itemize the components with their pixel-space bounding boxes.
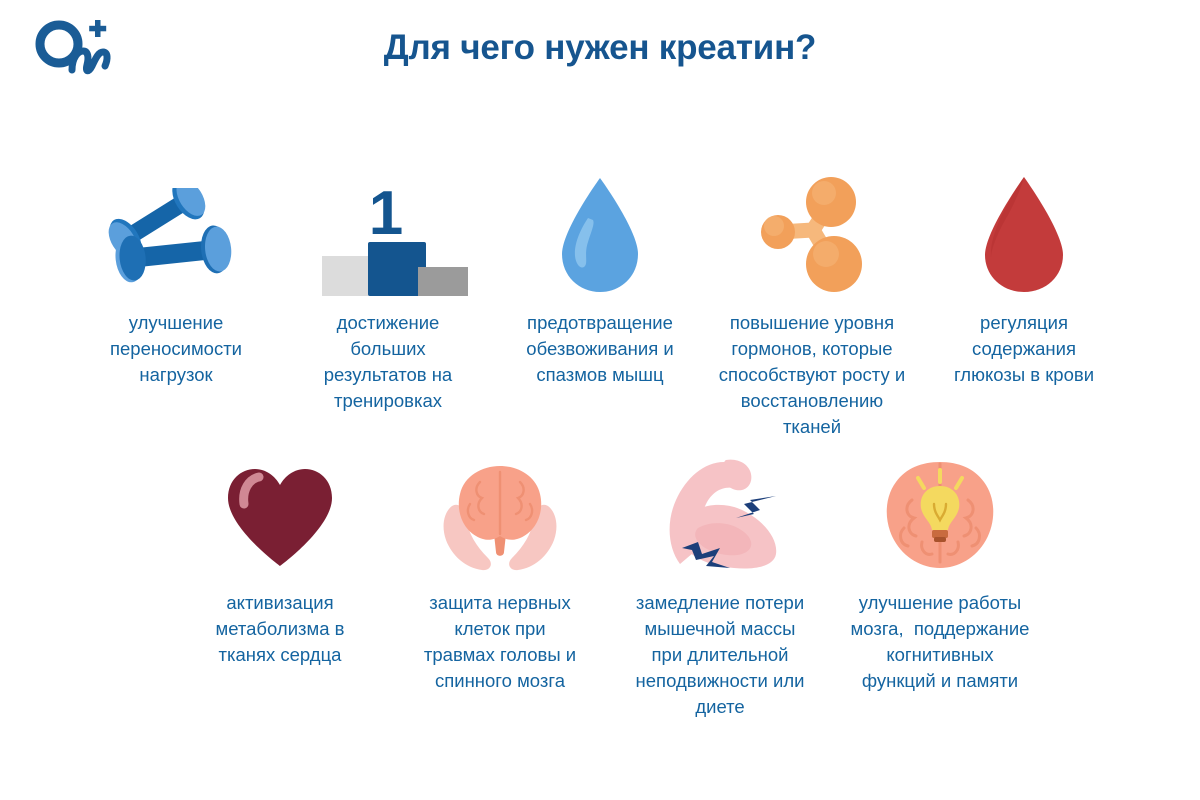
icon-container	[550, 168, 650, 296]
benefit-caption: активизация метаболизма в тканях сердца	[198, 590, 363, 668]
flexed-arm-lightning-icon	[650, 456, 790, 572]
icon-container	[436, 452, 564, 572]
icon-container	[751, 168, 873, 296]
benefit-item: активизация метаболизма в тканях сердца	[170, 452, 390, 668]
benefit-item: повышение уровня гормонов, которые спосо…	[706, 168, 918, 440]
benefit-item: улучшение работы мозга, поддержание когн…	[830, 452, 1050, 694]
icon-container	[101, 168, 251, 296]
water-drop-icon	[550, 174, 650, 296]
benefit-caption: улучшение работы мозга, поддержание когн…	[835, 590, 1045, 694]
benefits-row-1: улучшение переносимости нагрузок 1 дости…	[60, 168, 1140, 440]
benefit-caption: защита нервных клеток при травмах головы…	[410, 590, 590, 694]
benefit-item: улучшение переносимости нагрузок	[70, 168, 282, 388]
icon-container	[878, 452, 1002, 572]
podium-first-place-icon: 1	[308, 174, 468, 296]
icon-container: 1	[308, 168, 468, 296]
benefit-caption: замедление потери мышечной массы при дли…	[618, 590, 823, 720]
brain-lightbulb-icon	[878, 458, 1002, 572]
benefits-row-2: активизация метаболизма в тканях сердца	[170, 452, 1050, 720]
dumbbells-icon	[101, 188, 251, 296]
page-title: Для чего нужен креатин?	[0, 28, 1200, 68]
blood-drop-icon	[974, 174, 1074, 296]
icon-container	[974, 168, 1074, 296]
benefit-caption: достижение больших результатов на тренир…	[308, 310, 468, 414]
heart-icon	[222, 462, 338, 572]
icon-container	[650, 452, 790, 572]
icon-container	[222, 452, 338, 572]
podium-rank-label: 1	[369, 179, 403, 248]
benefit-item: 1 достижение больших результатов на трен…	[282, 168, 494, 414]
benefit-item: предотвращение обезвоживания и спазмов м…	[494, 168, 706, 388]
benefit-item: регуляция содержания глюкозы в крови	[918, 168, 1130, 388]
benefit-caption: предотвращение обезвоживания и спазмов м…	[502, 310, 698, 388]
benefit-caption: повышение уровня гормонов, которые спосо…	[705, 310, 920, 440]
brain-in-hands-icon	[436, 460, 564, 572]
benefit-item: защита нервных клеток при травмах головы…	[390, 452, 610, 694]
benefit-caption: улучшение переносимости нагрузок	[87, 310, 265, 388]
benefit-item: замедление потери мышечной массы при дли…	[610, 452, 830, 720]
molecule-icon	[751, 174, 873, 296]
infographic-page: Для чего нужен креатин?	[0, 0, 1200, 800]
benefit-caption: регуляция содержания глюкозы в крови	[927, 310, 1122, 388]
